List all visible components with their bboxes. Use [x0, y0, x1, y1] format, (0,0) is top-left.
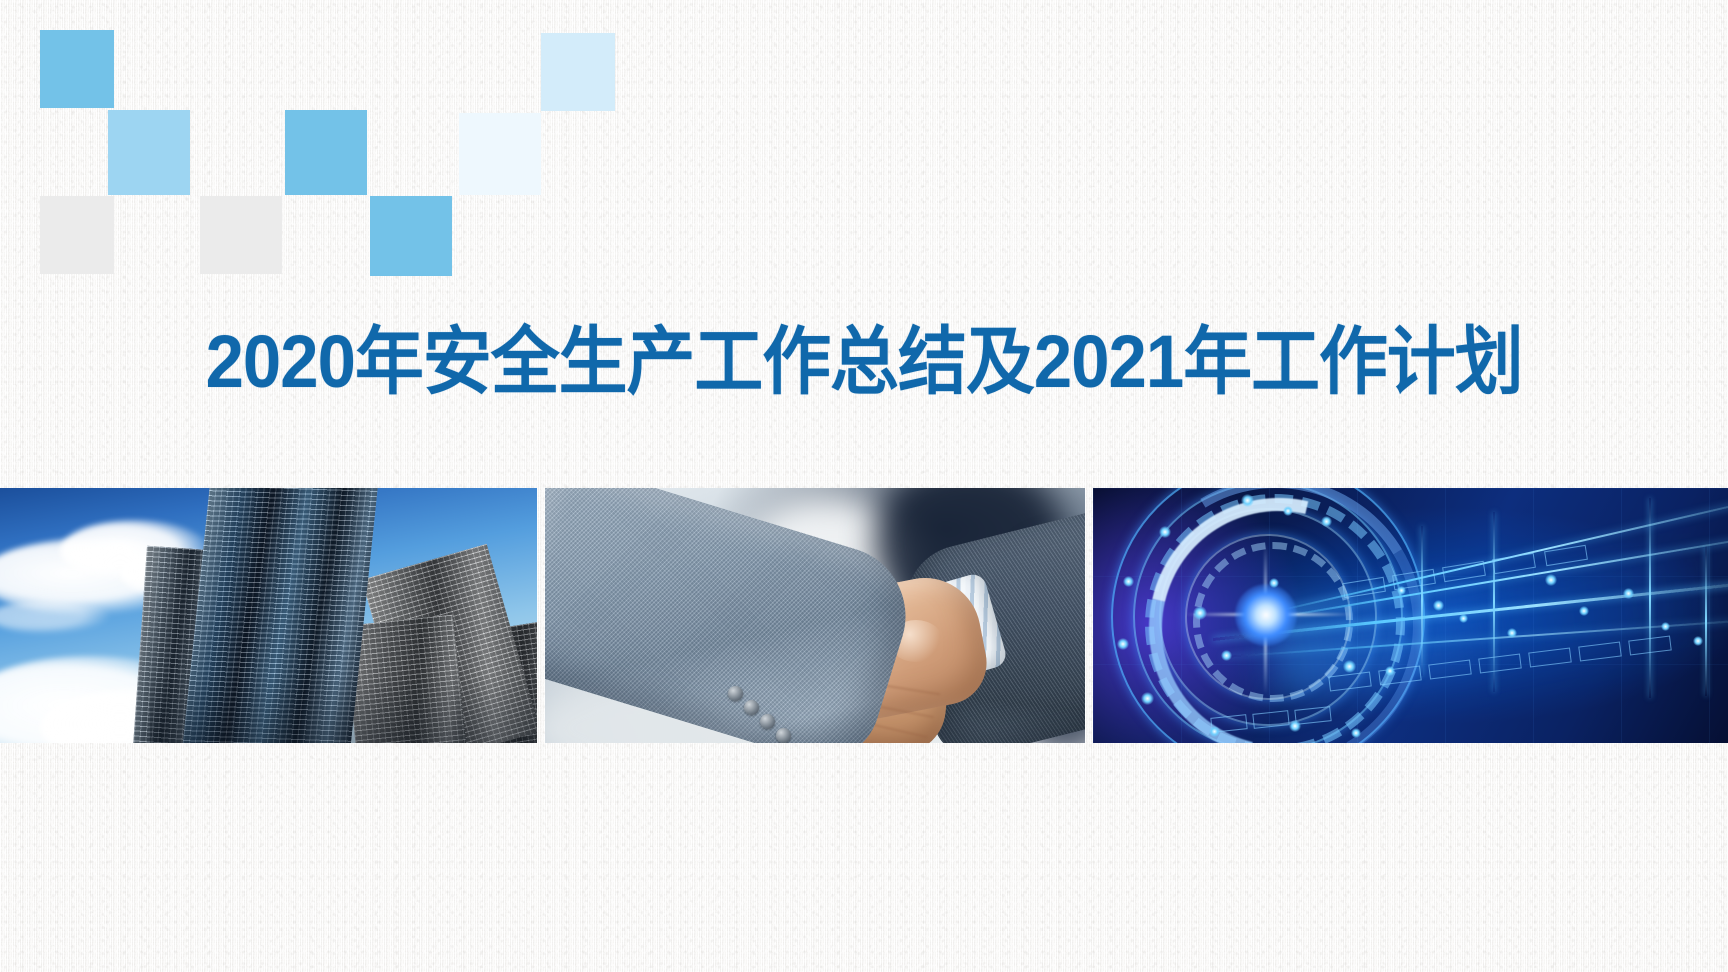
- particle: [1123, 576, 1134, 587]
- title-container: 2020年安全生产工作总结及2021年工作计划: [0, 312, 1728, 412]
- particle: [1209, 726, 1220, 737]
- particle: [1159, 526, 1171, 538]
- square-gray-1: [40, 196, 114, 274]
- sleeve-button: [728, 686, 743, 701]
- square-blue-mid-3: [370, 196, 452, 276]
- particle: [1385, 666, 1395, 676]
- particle: [1117, 638, 1129, 650]
- particle: [1351, 728, 1361, 738]
- square-gray-2: [200, 196, 282, 274]
- vertical-marker: [1649, 498, 1651, 698]
- particle: [1221, 650, 1232, 661]
- decorative-square-mosaic: [0, 0, 700, 300]
- particle: [1289, 720, 1301, 732]
- particle: [1269, 578, 1279, 588]
- particle: [1321, 516, 1332, 527]
- vertical-marker: [1421, 526, 1423, 676]
- presentation-slide: 2020年安全生产工作总结及2021年工作计划: [0, 0, 1728, 972]
- particle: [1693, 636, 1703, 646]
- particle: [1343, 660, 1356, 673]
- vertical-marker: [1705, 546, 1707, 696]
- particle: [1141, 692, 1154, 705]
- square-blue-mid-1: [40, 30, 114, 108]
- sleeve-button: [744, 700, 759, 715]
- square-faint-1: [459, 113, 541, 195]
- particle: [1661, 622, 1670, 631]
- particle: [1241, 494, 1254, 507]
- sleeve-button: [760, 714, 775, 729]
- square-pale-1: [541, 33, 615, 111]
- photo-handshake: [545, 488, 1085, 743]
- particle: [1545, 574, 1557, 586]
- square-light-1: [108, 110, 190, 195]
- building-shadow: [150, 673, 537, 743]
- hud-core-glow: [1235, 584, 1297, 646]
- photo-band: [0, 488, 1728, 743]
- particle: [1433, 600, 1444, 611]
- particle: [1623, 588, 1634, 599]
- photo-tech-hud: [1093, 488, 1728, 743]
- sleeve-button: [776, 728, 791, 743]
- photo-skyscrapers: [0, 488, 537, 743]
- particle: [1507, 628, 1517, 638]
- slide-title: 2020年安全生产工作总结及2021年工作计划: [205, 325, 1522, 399]
- particle: [1397, 586, 1406, 595]
- particle: [1459, 614, 1468, 623]
- square-blue-mid-2: [285, 110, 367, 195]
- particle: [1579, 606, 1589, 616]
- particle: [1283, 506, 1293, 516]
- particle: [1193, 606, 1207, 620]
